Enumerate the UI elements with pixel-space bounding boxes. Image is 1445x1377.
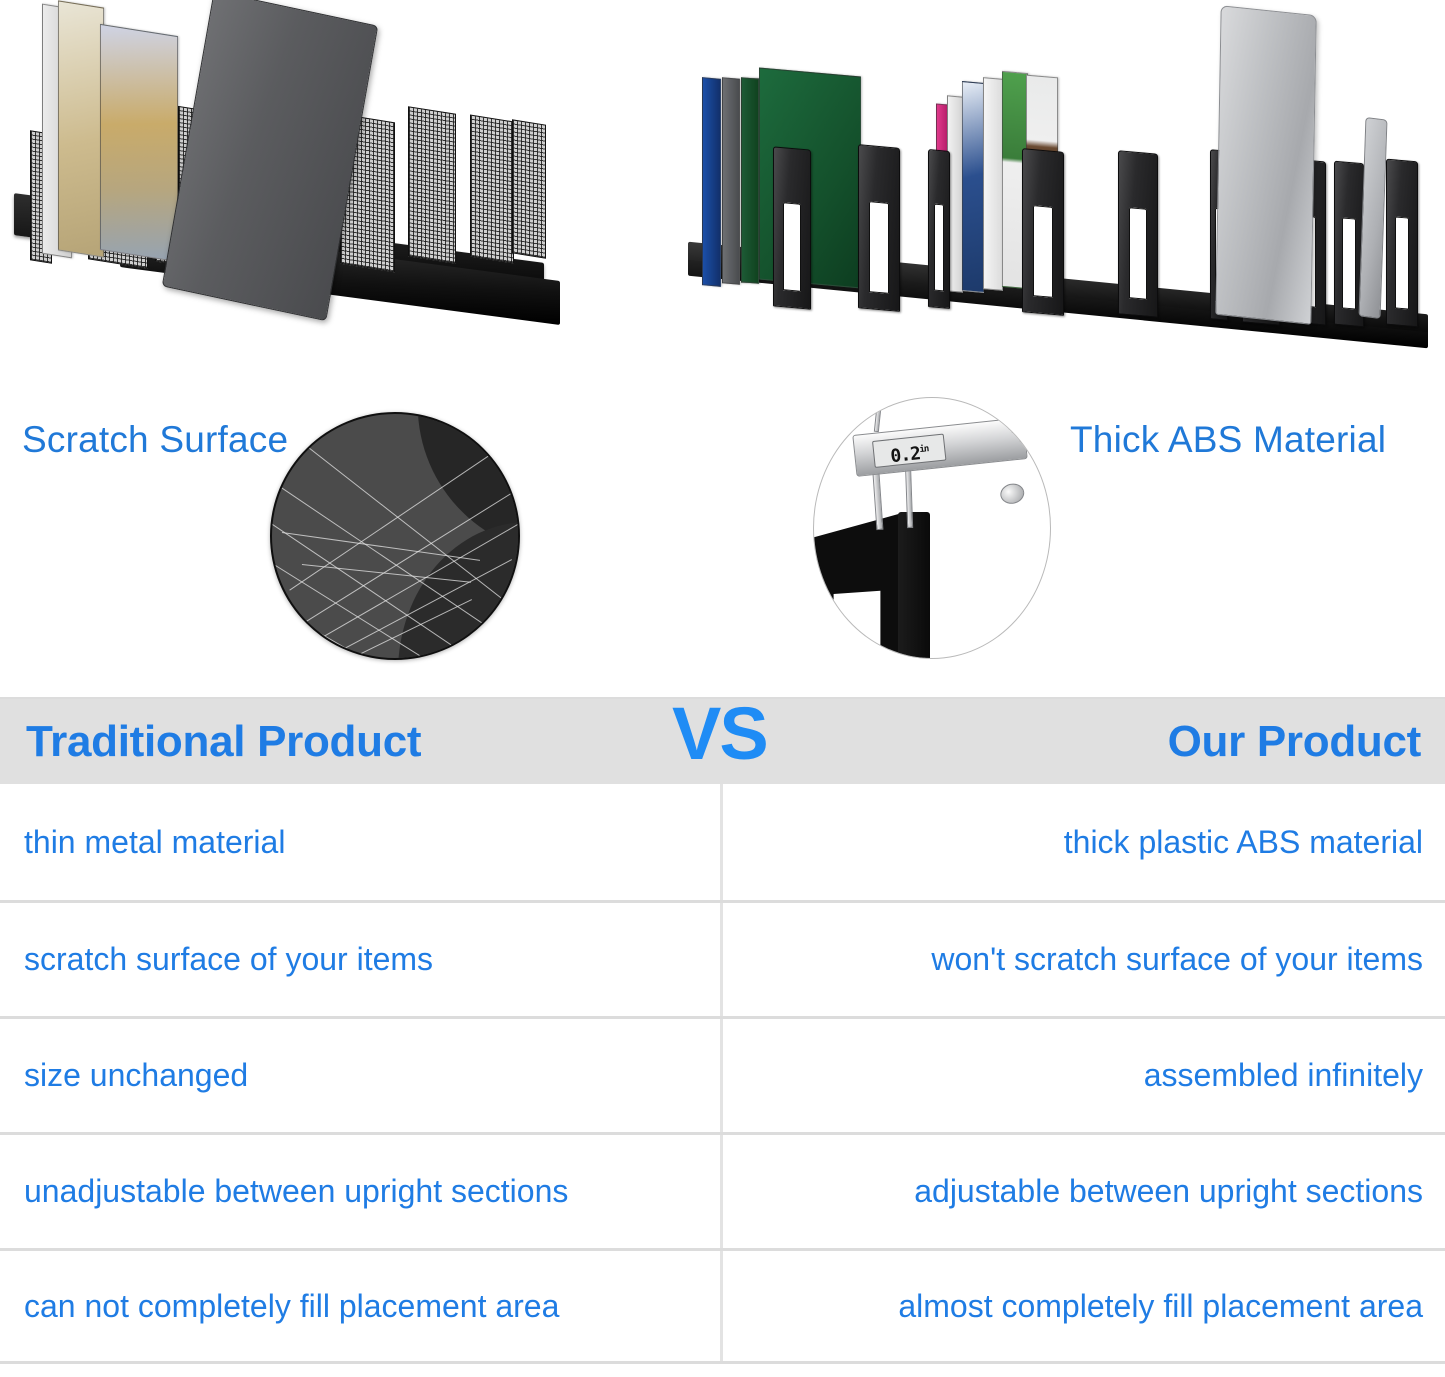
- traditional-product-title: Traditional Product: [26, 717, 421, 767]
- row-cell-traditional: can not completely fill placement area: [0, 1251, 723, 1361]
- caliper-reading: 0.2: [889, 443, 921, 467]
- scratch-dark-region-2: [398, 522, 520, 660]
- product-comparison-page: Scratch Surface 0.2in: [0, 0, 1445, 1377]
- abs-divider: [1386, 159, 1418, 328]
- caliper-display: 0.2in: [872, 434, 946, 468]
- abs-divider: [1022, 148, 1064, 316]
- thick-abs-material-label: Thick ABS Material: [1070, 419, 1386, 461]
- laptop-device: [1215, 5, 1316, 325]
- book-china-green: [58, 0, 104, 257]
- abs-divider: [858, 144, 900, 312]
- comparison-table: Traditional Product Our Product VS thin …: [0, 697, 1445, 1363]
- row-cell-ours: thick plastic ABS material: [723, 784, 1445, 900]
- row-cell-traditional: thin metal material: [0, 784, 723, 900]
- row-cell-traditional: scratch surface of your items: [0, 903, 723, 1016]
- abs-divider: [1118, 150, 1158, 317]
- row-cell-ours: almost completely fill placement area: [723, 1251, 1445, 1361]
- binder-blue: [702, 77, 721, 287]
- book-architecture: [100, 24, 178, 262]
- traditional-product-photo: [0, 0, 600, 340]
- caliper-jaw-top: [874, 397, 883, 432]
- header-cell-traditional: Traditional Product: [0, 699, 723, 784]
- mesh-divider: [470, 115, 514, 264]
- comparison-table-body: thin metal material thick plastic ABS ma…: [0, 784, 1445, 1364]
- table-row: size unchanged assembled infinitely: [0, 1016, 1445, 1132]
- caliper-unit: in: [919, 444, 929, 455]
- scratch-surface-image: [270, 412, 520, 660]
- comparison-table-header: Traditional Product Our Product VS: [0, 699, 1445, 784]
- mesh-divider: [512, 119, 546, 258]
- abs-divider: [773, 146, 811, 309]
- abs-divider: [928, 149, 950, 309]
- binder-green: [741, 77, 759, 284]
- table-row: can not completely fill placement area a…: [0, 1248, 1445, 1364]
- row-cell-ours: adjustable between upright sections: [723, 1135, 1445, 1248]
- row-cell-traditional: unadjustable between upright sections: [0, 1135, 723, 1248]
- scratch-line: [282, 532, 480, 561]
- header-cell-ours: Our Product: [723, 699, 1445, 784]
- feature-callouts-row: Scratch Surface 0.2in: [0, 390, 1445, 680]
- abs-bracket-upright: [898, 512, 930, 659]
- product-photos-row: [0, 0, 1445, 390]
- table-row: scratch surface of your items won't scra…: [0, 900, 1445, 1016]
- scratch-surface-label: Scratch Surface: [22, 419, 288, 461]
- thick-abs-material-image: 0.2in: [813, 397, 1051, 659]
- mesh-divider: [408, 106, 456, 264]
- table-row: thin metal material thick plastic ABS ma…: [0, 784, 1445, 900]
- table-row: unadjustable between upright sections ad…: [0, 1132, 1445, 1248]
- our-product-photo: [670, 0, 1445, 380]
- abs-bracket-shape: [813, 514, 974, 659]
- magazine-blue: [962, 81, 984, 293]
- row-cell-traditional: size unchanged: [0, 1019, 723, 1132]
- magazine-light: [983, 77, 1003, 291]
- row-cell-ours: assembled infinitely: [723, 1019, 1445, 1132]
- our-product-title: Our Product: [1168, 717, 1421, 767]
- caliper-thumb-wheel: [998, 481, 1026, 506]
- tablet-device: [1359, 117, 1388, 319]
- vs-badge: VS: [672, 697, 767, 771]
- binder-gray: [722, 77, 740, 285]
- row-cell-ours: won't scratch surface of your items: [723, 903, 1445, 1016]
